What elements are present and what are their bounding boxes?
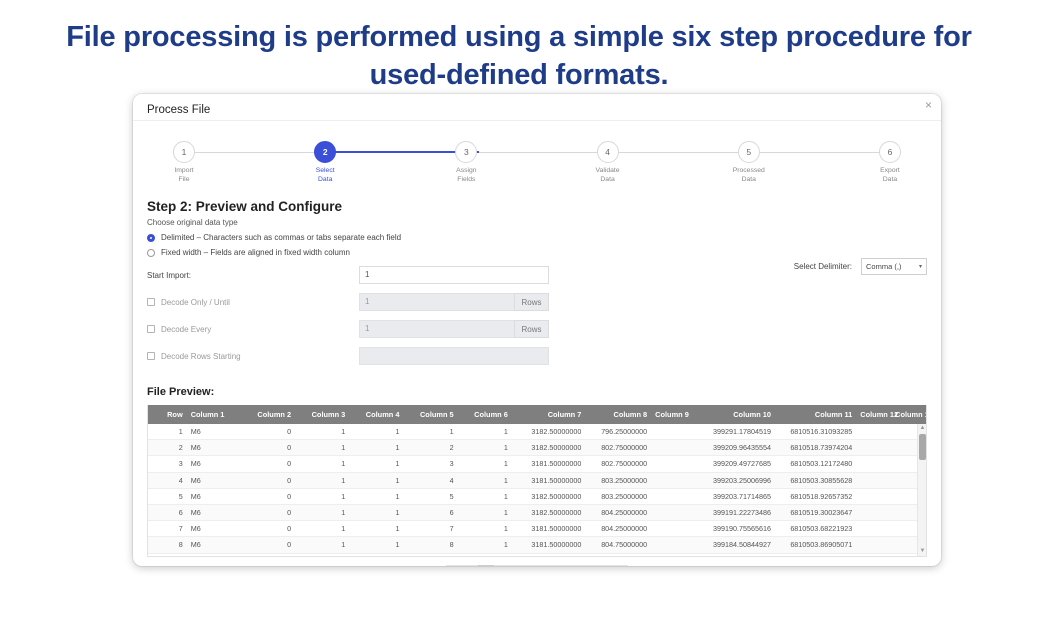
- table-cell: 3181.50000000: [512, 521, 586, 537]
- table-cell: 0: [241, 472, 295, 488]
- table-cell: 1: [458, 488, 512, 504]
- table-cell: 1: [458, 456, 512, 472]
- table-row[interactable]: 6M6011613182.50000000804.25000000399191.…: [148, 504, 926, 520]
- table-cell: 1: [295, 521, 349, 537]
- step-label-line1: Select: [292, 166, 358, 175]
- table-cell: M6: [187, 537, 241, 553]
- pagination: «‹12345…974›»: [147, 565, 927, 566]
- step-item-export-data[interactable]: 6 Export Data: [857, 141, 923, 184]
- table-cell: [651, 456, 694, 472]
- table-cell: 2: [403, 440, 457, 456]
- table-cell: 3181.50000000: [512, 537, 586, 553]
- scroll-down-icon[interactable]: ▼: [919, 548, 926, 555]
- table-cell: 1: [403, 424, 457, 440]
- decode-every-input[interactable]: 1: [359, 320, 514, 338]
- step-label-line2: Fields: [433, 175, 499, 184]
- step-label-line2: Data: [575, 175, 641, 184]
- table-cell: [651, 472, 694, 488]
- table-cell: 399209.49727685: [694, 456, 775, 472]
- table-cell: 3: [403, 456, 457, 472]
- table-row[interactable]: 1M6011113182.50000000796.25000000399291.…: [148, 424, 926, 440]
- decode-rows-starting-checkbox[interactable]: [147, 352, 155, 360]
- file-preview-table: Row Column 1 Column 2 Column 3 Column 4 …: [148, 405, 926, 557]
- table-cell: 0: [241, 456, 295, 472]
- file-preview-title: File Preview:: [147, 386, 927, 398]
- table-cell: [651, 424, 694, 440]
- table-cell: 399184.04137058: [694, 553, 775, 557]
- step-number: 3: [455, 141, 477, 163]
- table-cell: 8: [148, 537, 187, 553]
- table-cell: 1: [349, 472, 403, 488]
- decode-every-row: Decode Every 1 Rows: [147, 320, 927, 338]
- table-cell: 2: [148, 440, 187, 456]
- table-cell: 3: [148, 456, 187, 472]
- table-cell: 1: [349, 553, 403, 557]
- data-type-label: Choose original data type: [147, 218, 927, 227]
- step-label-line1: Validate: [575, 166, 641, 175]
- column-header-4[interactable]: Column 4: [349, 405, 403, 424]
- table-row[interactable]: 5M6011513182.50000000803.25000000399203.…: [148, 488, 926, 504]
- decode-only-label: Decode Only / Until: [161, 298, 230, 307]
- step-item-assign-fields[interactable]: 3 Assign Fields: [433, 141, 499, 184]
- pagination-item[interactable]: 2: [494, 565, 510, 566]
- column-header-row[interactable]: Row: [148, 405, 187, 424]
- radio-option-delimited[interactable]: Delimited – Characters such as commas or…: [147, 233, 927, 242]
- table-cell: [856, 440, 891, 456]
- column-header-5[interactable]: Column 5: [403, 405, 457, 424]
- chevron-down-icon: ▾: [919, 263, 922, 270]
- decode-only-unit: Rows: [514, 293, 549, 311]
- decode-every-checkbox[interactable]: [147, 325, 155, 333]
- column-header-11[interactable]: Column 11: [775, 405, 856, 424]
- decode-every-unit: Rows: [514, 320, 549, 338]
- pagination-item[interactable]: »: [612, 565, 628, 566]
- process-file-modal: Process File × 1 Import File 2: [133, 94, 941, 566]
- column-header-2[interactable]: Column 2: [241, 405, 295, 424]
- step-item-processed-data[interactable]: 5 Processed Data: [716, 141, 782, 184]
- pagination-item[interactable]: 4: [526, 565, 542, 566]
- table-cell: M6: [187, 440, 241, 456]
- table-cell: 5: [148, 488, 187, 504]
- table-cell: [856, 424, 891, 440]
- table-cell: [856, 488, 891, 504]
- table-cell: 1: [349, 504, 403, 520]
- table-cell: 4: [148, 472, 187, 488]
- table-cell: 1: [458, 504, 512, 520]
- table-cell: 1: [295, 553, 349, 557]
- table-cell: 6: [148, 504, 187, 520]
- column-header-6[interactable]: Column 6: [458, 405, 512, 424]
- table-cell: [856, 553, 891, 557]
- table-cell: 6810516.31093285: [775, 424, 856, 440]
- step-label-line2: Data: [857, 175, 923, 184]
- step-item-validate-data[interactable]: 4 Validate Data: [575, 141, 641, 184]
- decode-only-checkbox[interactable]: [147, 298, 155, 306]
- step-label-line1: Processed: [716, 166, 782, 175]
- table-cell: 803.25000000: [585, 472, 651, 488]
- table-cell: 804.25000000: [585, 504, 651, 520]
- table-cell: 3180.50000000: [512, 553, 586, 557]
- column-header-7[interactable]: Column 7: [512, 405, 586, 424]
- decode-only-row: Decode Only / Until 1 Rows: [147, 293, 927, 311]
- radio-delimited-label: Delimited – Characters such as commas or…: [161, 233, 401, 242]
- decode-every-label: Decode Every: [161, 325, 211, 334]
- table-cell: 6810519.30023647: [775, 504, 856, 520]
- pagination-item[interactable]: 1: [478, 565, 494, 566]
- table-cell: 804.75000000: [585, 537, 651, 553]
- table-cell: 7: [403, 521, 457, 537]
- table-cell: 399209.96435554: [694, 440, 775, 456]
- table-cell: [651, 504, 694, 520]
- column-header-9[interactable]: Column 9: [651, 405, 694, 424]
- table-cell: 3181.50000000: [512, 456, 586, 472]
- table-cell: 6810503.86905071: [775, 537, 856, 553]
- table-cell: 1: [349, 424, 403, 440]
- table-cell: 1: [295, 472, 349, 488]
- start-import-label: Start Import:: [147, 271, 191, 280]
- table-cell: M6: [187, 521, 241, 537]
- table-cell: 804.75000000: [585, 553, 651, 557]
- table-cell: 1: [349, 488, 403, 504]
- radio-fixed-width-label: Fixed width – Fields are aligned in fixe…: [161, 248, 350, 257]
- table-cell: 1: [295, 537, 349, 553]
- radio-delimited-input[interactable]: [147, 234, 155, 242]
- table-body: 1M6011113182.50000000796.25000000399291.…: [148, 424, 926, 557]
- table-cell: 1: [295, 440, 349, 456]
- table-cell: 9: [148, 553, 187, 557]
- table-cell: 1: [458, 472, 512, 488]
- radio-option-fixed-width[interactable]: Fixed width – Fields are aligned in fixe…: [147, 248, 927, 257]
- table-cell: 3182.50000000: [512, 424, 586, 440]
- table-cell: [651, 521, 694, 537]
- table-cell: 3181.50000000: [512, 472, 586, 488]
- table-cell: [856, 472, 891, 488]
- table-cell: 9: [403, 553, 457, 557]
- table-cell: 399291.17804519: [694, 424, 775, 440]
- modal-title: Process File: [147, 104, 210, 116]
- table-cell: 6810518.92657352: [775, 488, 856, 504]
- scroll-up-icon[interactable]: ▲: [919, 425, 926, 432]
- pagination-item[interactable]: 974: [574, 565, 596, 566]
- table-cell: [651, 488, 694, 504]
- section-title: Step 2: Preview and Configure: [147, 199, 927, 214]
- table-cell: 399191.22273486: [694, 504, 775, 520]
- table-cell: M6: [187, 472, 241, 488]
- table-row[interactable]: 4M6011413181.50000000803.25000000399203.…: [148, 472, 926, 488]
- table-cell: 0: [241, 504, 295, 520]
- table-cell: 1: [458, 537, 512, 553]
- delimiter-label: Select Delimiter:: [794, 262, 852, 271]
- pagination-item[interactable]: «: [446, 565, 462, 566]
- table-cell: M6: [187, 456, 241, 472]
- table-cell: 1: [458, 521, 512, 537]
- column-header-3[interactable]: Column 3: [295, 405, 349, 424]
- radio-fixed-width-input[interactable]: [147, 249, 155, 257]
- table-cell: M6: [187, 488, 241, 504]
- step-label-line2: Data: [716, 175, 782, 184]
- column-header-1[interactable]: Column 1: [187, 405, 241, 424]
- table-cell: M6: [187, 504, 241, 520]
- pagination-item[interactable]: ‹: [462, 565, 478, 566]
- pagination-item[interactable]: 3: [510, 565, 526, 566]
- delimiter-control: Select Delimiter: Comma (,) ▾: [794, 258, 927, 275]
- step-label-line1: Import: [151, 166, 217, 175]
- table-cell: 3182.50000000: [512, 440, 586, 456]
- scrollbar-thumb[interactable]: [919, 434, 926, 460]
- table-cell: 1: [349, 456, 403, 472]
- table-cell: 3182.50000000: [512, 488, 586, 504]
- table-cell: [651, 440, 694, 456]
- column-header-8[interactable]: Column 8: [585, 405, 651, 424]
- table-row[interactable]: 9M6011913180.50000000804.75000000399184.…: [148, 553, 926, 557]
- table-cell: [856, 521, 891, 537]
- decode-rows-starting-row: Decode Rows Starting: [147, 347, 927, 365]
- pagination-item[interactable]: ›: [596, 565, 612, 566]
- table-cell: 399190.75565616: [694, 521, 775, 537]
- table-cell: [856, 504, 891, 520]
- table-cell: 399184.50844927: [694, 537, 775, 553]
- table-cell: [856, 537, 891, 553]
- delimiter-selected-value: Comma (,): [866, 262, 901, 271]
- table-cell: 803.25000000: [585, 488, 651, 504]
- table-cell: [651, 537, 694, 553]
- stepper: 1 Import File 2 Select Data: [151, 141, 923, 193]
- table-cell: 6: [403, 504, 457, 520]
- table-cell: [651, 553, 694, 557]
- table-cell: 6810503.68221923: [775, 521, 856, 537]
- step-label-line1: Export: [857, 166, 923, 175]
- step-item-import-file[interactable]: 1 Import File: [151, 141, 217, 184]
- table-cell: 5: [403, 488, 457, 504]
- decode-only-input[interactable]: 1: [359, 293, 514, 311]
- pagination-item[interactable]: 5: [542, 565, 558, 566]
- table-cell: 7: [148, 521, 187, 537]
- table-cell: 0: [241, 488, 295, 504]
- pagination-item[interactable]: …: [558, 565, 575, 566]
- step-label-line2: File: [151, 175, 217, 184]
- table-cell: 399203.25006996: [694, 472, 775, 488]
- table-row[interactable]: 2M6011213182.50000000802.75000000399209.…: [148, 440, 926, 456]
- table-cell: 6810518.73974204: [775, 440, 856, 456]
- table-cell: 3182.50000000: [512, 504, 586, 520]
- table-cell: 802.75000000: [585, 440, 651, 456]
- delimiter-select[interactable]: Comma (,) ▾: [861, 258, 927, 275]
- table-row[interactable]: 3M6011313181.50000000802.75000000399209.…: [148, 456, 926, 472]
- table-header-row: Row Column 1 Column 2 Column 3 Column 4 …: [148, 405, 926, 424]
- table-row[interactable]: 8M6011813181.50000000804.75000000399184.…: [148, 537, 926, 553]
- decode-rows-starting-input[interactable]: [359, 347, 549, 365]
- table-cell: 399203.71714865: [694, 488, 775, 504]
- column-header-13[interactable]: Column 13: [891, 405, 926, 424]
- start-import-input[interactable]: 1: [359, 266, 549, 284]
- table-cell: 8: [403, 537, 457, 553]
- table-cell: 0: [241, 521, 295, 537]
- table-cell: M6: [187, 553, 241, 557]
- step-number: 5: [738, 141, 760, 163]
- table-cell: 1: [295, 424, 349, 440]
- table-cell: [856, 456, 891, 472]
- close-icon[interactable]: ×: [925, 98, 932, 112]
- modal-header: Process File ×: [133, 94, 941, 121]
- table-cell: 0: [241, 440, 295, 456]
- table-cell: 6810503.12172480: [775, 456, 856, 472]
- table-cell: 0: [241, 553, 295, 557]
- page-title: File processing is performed using a sim…: [0, 18, 1038, 94]
- table-cell: 6810488.25103347: [775, 553, 856, 557]
- table-cell: 796.25000000: [585, 424, 651, 440]
- step-number: 2: [314, 141, 336, 163]
- table-cell: 1: [148, 424, 187, 440]
- table-cell: M6: [187, 424, 241, 440]
- page-root: File processing is performed using a sim…: [0, 0, 1038, 620]
- table-cell: 1: [349, 440, 403, 456]
- table-cell: 1: [349, 521, 403, 537]
- table-cell: 1: [458, 553, 512, 557]
- table-cell: 0: [241, 424, 295, 440]
- table-row[interactable]: 7M6011713181.50000000804.25000000399190.…: [148, 521, 926, 537]
- decode-rows-starting-label: Decode Rows Starting: [161, 352, 241, 361]
- step-label-line2: Data: [292, 175, 358, 184]
- column-header-12[interactable]: Column 12: [856, 405, 891, 424]
- table-cell: 1: [349, 537, 403, 553]
- step-number: 4: [597, 141, 619, 163]
- table-cell: 804.25000000: [585, 521, 651, 537]
- table-cell: 6810503.30855628: [775, 472, 856, 488]
- table-cell: 1: [458, 440, 512, 456]
- file-preview-table-wrap: Row Column 1 Column 2 Column 3 Column 4 …: [147, 405, 927, 557]
- table-cell: 1: [295, 488, 349, 504]
- column-header-10[interactable]: Column 10: [694, 405, 775, 424]
- modal-body: 1 Import File 2 Select Data: [133, 141, 941, 566]
- table-cell: 0: [241, 537, 295, 553]
- table-cell: 1: [458, 424, 512, 440]
- table-cell: 1: [295, 456, 349, 472]
- table-vertical-scrollbar[interactable]: ▲ ▼: [917, 424, 926, 556]
- step-number: 6: [879, 141, 901, 163]
- step-item-select-data[interactable]: 2 Select Data: [292, 141, 358, 184]
- table-cell: 4: [403, 472, 457, 488]
- step-label-line1: Assign: [433, 166, 499, 175]
- table-cell: 802.75000000: [585, 456, 651, 472]
- table-cell: 1: [295, 504, 349, 520]
- step-number: 1: [173, 141, 195, 163]
